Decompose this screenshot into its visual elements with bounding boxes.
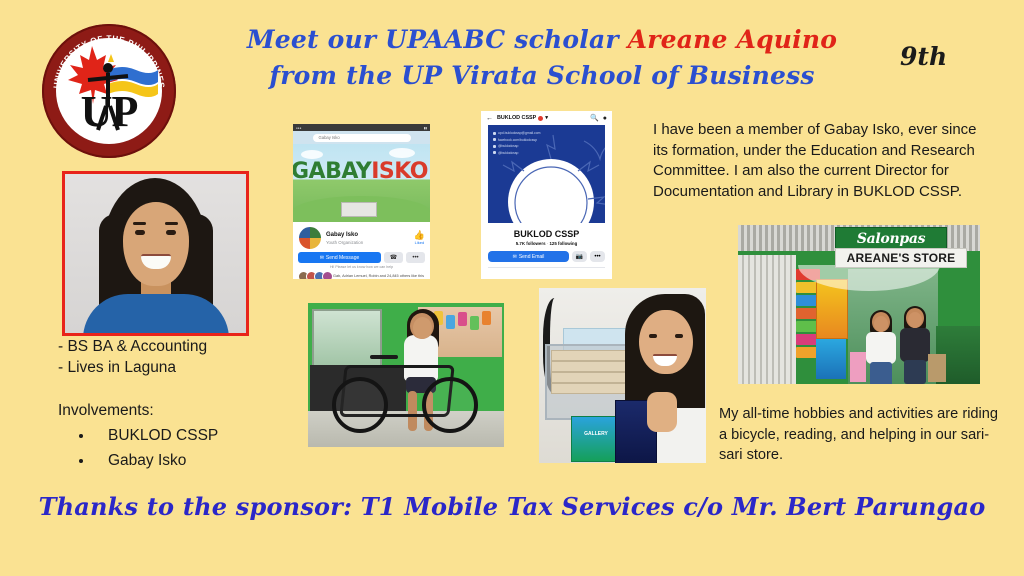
book-stack: [551, 350, 629, 396]
galleon-label: GALLERY: [572, 431, 620, 437]
portrait-brow-right: [165, 222, 178, 225]
edition-badge: 9th: [900, 42, 947, 71]
facepile: [298, 271, 330, 279]
chevron-down-icon[interactable]: ▾: [545, 115, 548, 121]
send-message-button[interactable]: ✉Send Message: [298, 252, 381, 263]
quote-hobbies: My all-time hobbies and activities are r…: [719, 404, 1004, 466]
scholar-name: Areane Aquino: [628, 25, 837, 54]
book-row: [551, 350, 631, 361]
book-row: [551, 361, 631, 372]
cloud-shape: [389, 148, 415, 158]
avatar: [322, 271, 333, 279]
mail-icon: ✉: [513, 254, 517, 260]
person-left: [862, 312, 900, 384]
facebook-search-row: Gabay Isko: [293, 131, 430, 144]
nav-title-label: BUKLOD CSSP: [497, 115, 536, 121]
page-cover-photo: upd.buklodcssp@gmail.com facebook.com/bu…: [488, 125, 605, 223]
involvements-label: Involvements:: [58, 400, 328, 421]
portrait-eye-left: [135, 230, 145, 235]
shelf-item: [470, 316, 479, 330]
window-shape: [312, 309, 382, 371]
logo-inner-disc: UP: [56, 38, 162, 144]
book-row: [551, 383, 631, 394]
profile-location: - Lives in Laguna: [58, 357, 328, 378]
person-eye-left: [649, 334, 657, 338]
logo-up-letters: UP: [56, 92, 162, 132]
portrait-eye-right: [166, 230, 176, 235]
photo-sari-sari-store: Salonpas AREANE'S STORE: [738, 225, 980, 384]
cover-text-gabay: GABAY: [293, 159, 371, 184]
portrait-face: [123, 202, 189, 286]
followers-count: 5.7K followers: [516, 241, 546, 246]
more-options-button[interactable]: •••: [406, 252, 425, 263]
profile-degree: - BS BA & Accounting: [58, 336, 328, 357]
sun-rays-graphic: [488, 125, 605, 223]
store-gate: [738, 255, 796, 384]
bicycle-wheel-rear: [332, 377, 388, 433]
back-arrow-icon[interactable]: ←: [486, 115, 493, 122]
cloud-shape: [301, 150, 323, 159]
person-eye-right: [675, 334, 683, 338]
bicycle-handlebar: [370, 355, 398, 359]
promo-poster-blue: [816, 339, 846, 379]
divider: [488, 267, 605, 274]
person-pants: [904, 360, 926, 384]
status-bar-left: ●●●: [296, 126, 301, 130]
nav-title: BUKLOD CSSP▾: [497, 115, 548, 121]
bicycle-wheel-front: [422, 377, 478, 433]
person-shirt: [900, 328, 930, 362]
page-cover-photo: GABAYISKO: [293, 144, 430, 222]
list-item: BUKLOD CSSP: [94, 423, 328, 448]
camera-button[interactable]: 📷: [572, 251, 587, 262]
sponsor-line: Thanks to the sponsor: T1 Mobile Tax Ser…: [0, 492, 1024, 521]
person-shirt: [866, 332, 896, 364]
person-face: [908, 312, 922, 328]
headline-prefix: Meet our UPAABC scholar: [247, 25, 628, 54]
page-note: Hi! Please let us know how we can help: [293, 263, 430, 270]
page-nav-bar: ← BUKLOD CSSP▾ 🔍 ●: [481, 111, 612, 125]
likes-summary-text: Gab, Adrian Lemuel, Robin and 24,845 oth…: [333, 274, 424, 279]
salonpas-sign: Salonpas: [835, 227, 947, 250]
list-item: Gabay Isko: [94, 448, 328, 473]
status-bar-right: ▮▮: [424, 126, 427, 130]
search-icon[interactable]: 🔍: [590, 114, 599, 122]
liked-button[interactable]: 👍 Liked: [414, 231, 425, 245]
headline-line-1: Meet our UPAABC scholar Areane Aquino: [232, 22, 852, 58]
page-action-buttons: ✉Send Email 📷 •••: [481, 246, 612, 262]
person-jeans: [870, 362, 892, 384]
more-options-button[interactable]: •••: [590, 251, 605, 262]
person-face: [874, 316, 888, 332]
poster-canvas: UNIVERSITY OF THE PHILIPPINES ALUMNI ASS…: [0, 0, 1024, 576]
shelf-item: [482, 311, 491, 325]
headline-line-2: from the UP Virata School of Business: [232, 58, 852, 94]
call-button[interactable]: ☎: [384, 252, 403, 263]
buklod-cssp-facebook-screenshot: ← BUKLOD CSSP▾ 🔍 ● upd.buklodcssp@gmail.…: [481, 111, 612, 279]
page-category: Youth Organization: [326, 239, 363, 246]
page-likes-row: Gab, Adrian Lemuel, Robin and 24,845 oth…: [293, 270, 430, 279]
liked-label: Liked: [414, 240, 425, 245]
shelf-item: [446, 315, 455, 329]
upaabc-logo: UNIVERSITY OF THE PHILIPPINES ALUMNI ASS…: [42, 24, 176, 158]
shopping-bag-pink: [850, 352, 866, 382]
quote-organizations: I have been a member of Gabay Isko, ever…: [653, 120, 983, 202]
involvements-list: BUKLOD CSSP Gabay Isko: [58, 423, 328, 473]
cover-text-isko: ISKO: [371, 159, 428, 184]
photo-bicycle: [308, 303, 504, 447]
portrait-brow-left: [133, 222, 146, 225]
photo-reading: GALLERY: [539, 288, 706, 463]
person-face: [413, 317, 432, 339]
send-message-label: Send Message: [326, 255, 359, 261]
galleon-book: GALLERY: [571, 416, 621, 462]
page-identity-row: Gabay Isko Youth Organization 👍 Liked: [293, 222, 430, 252]
scholar-portrait: [62, 171, 249, 336]
messenger-icon[interactable]: ●: [603, 115, 607, 122]
page-action-buttons: ✉Send Message ☎ •••: [293, 252, 430, 263]
gabay-isko-facebook-screenshot: ●●●▮▮ Gabay Isko GABAYISKO Gabay Isko Yo…: [293, 124, 430, 279]
person-hand: [647, 392, 677, 432]
profile-bio: - BS BA & Accounting - Lives in Laguna I…: [58, 336, 328, 473]
cover-banner-text: GABAYISKO: [293, 160, 430, 184]
messenger-icon: ✉: [320, 255, 324, 261]
following-count: 125 following: [549, 241, 577, 246]
search-input[interactable]: Gabay Isko: [313, 134, 411, 142]
page-avatar[interactable]: [298, 226, 322, 250]
thumbs-up-icon: 👍: [414, 231, 425, 240]
salonpas-label: Salonpas: [857, 231, 925, 247]
shelf-item: [458, 312, 467, 326]
page-name: BUKLOD CSSP: [481, 229, 612, 239]
phone-status-bar: ●●●▮▮: [293, 124, 430, 131]
send-email-button[interactable]: ✉Send Email: [488, 251, 569, 262]
headline: Meet our UPAABC scholar Areane Aquino fr…: [232, 22, 852, 94]
shopping-bag-tan: [928, 354, 946, 382]
book-row: [551, 372, 631, 383]
store-name-sign: AREANE'S STORE: [835, 248, 967, 268]
send-email-label: Send Email: [519, 254, 545, 260]
building-shape: [341, 202, 377, 217]
verified-badge-icon: [538, 116, 543, 121]
page-name: Gabay Isko: [326, 231, 363, 239]
store-name-label: AREANE'S STORE: [847, 251, 956, 265]
portrait-shirt: [83, 294, 229, 336]
